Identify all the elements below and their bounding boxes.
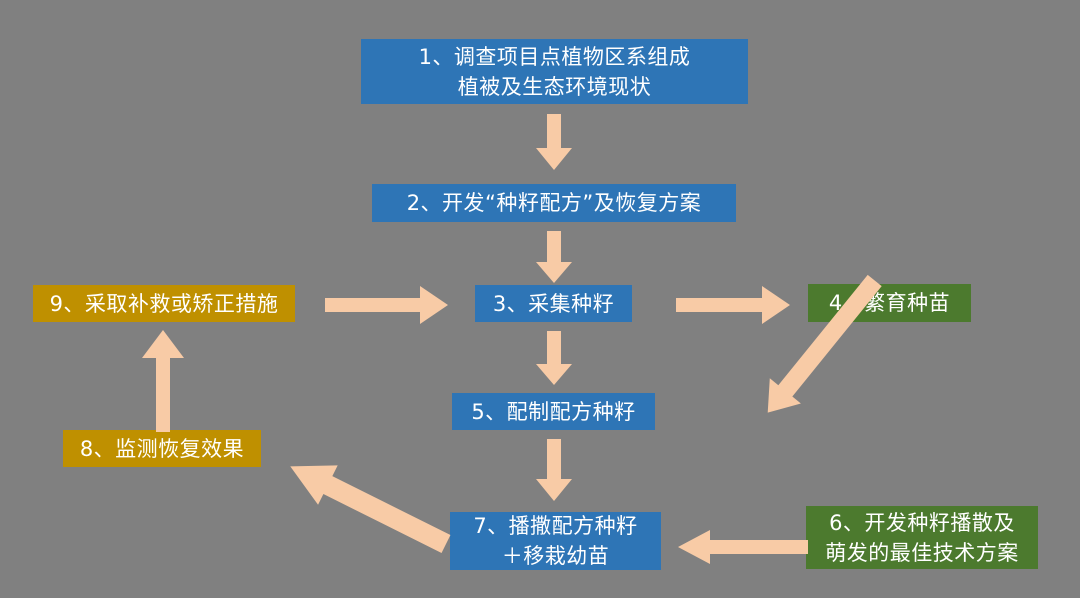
flow-node-1[interactable]: 1、调查项目点植物区系组成 植被及生态环境现状 [361, 39, 748, 104]
arrow-down-icon-node5-node7 [536, 439, 572, 501]
arrow-diagonal-icon-node7-node8 [272, 452, 452, 557]
flow-node-2[interactable]: 2、开发“种籽配方”及恢复方案 [372, 184, 736, 222]
flow-node-4[interactable]: 4、繁育种苗 [808, 284, 971, 322]
arrow-right-icon-node9-node3 [325, 286, 448, 324]
arrow-right-icon-node3-node4 [676, 286, 790, 324]
flow-node-3[interactable]: 3、采集种籽 [475, 285, 632, 322]
flow-node-9[interactable]: 9、采取补救或矫正措施 [33, 285, 295, 322]
arrow-down-icon-node1-node2 [536, 114, 572, 170]
arrow-left-icon-node6-node7 [678, 530, 808, 564]
flow-node-6[interactable]: 6、开发种籽播散及 萌发的最佳技术方案 [806, 506, 1038, 569]
flow-node-8[interactable]: 8、监测恢复效果 [63, 430, 261, 467]
flow-node-5[interactable]: 5、配制配方种籽 [452, 393, 655, 430]
diagram-canvas: 1、调查项目点植物区系组成 植被及生态环境现状 2、开发“种籽配方”及恢复方案 … [0, 0, 1080, 598]
arrow-diagonal-icon-node4-node7 [685, 356, 815, 501]
arrow-up-icon-node8-node9 [142, 330, 184, 432]
arrow-down-icon-node2-node3 [536, 231, 572, 283]
flow-node-7[interactable]: 7、播撒配方种籽 ＋移栽幼苗 [450, 512, 661, 570]
arrow-down-icon-node3-node5 [536, 331, 572, 385]
